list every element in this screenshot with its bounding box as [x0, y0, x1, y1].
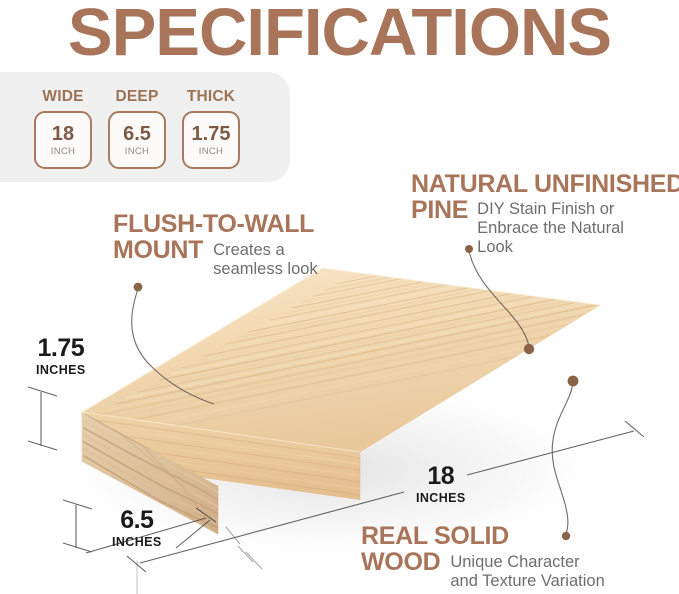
- dimension-label-thickness: 1.75 INCHES: [36, 336, 86, 377]
- callout-flush-heading-1: FLUSH-TO-WALL: [113, 212, 318, 238]
- dimension-unit-width: INCHES: [416, 492, 466, 505]
- callout-flush-sub: Creates a seamless look: [213, 238, 318, 280]
- callout-flush-sub-1: Creates a: [213, 241, 285, 259]
- dimension-unit-thickness: INCHES: [36, 364, 86, 377]
- dimension-value-depth: 6.5: [112, 508, 162, 533]
- callout-real-solid-wood: REAL SOLID WOOD Unique Character and Tex…: [361, 524, 650, 591]
- callout-wood-sub-1: Unique Character: [450, 553, 579, 571]
- callout-pine-heading-1: NATURAL UNFINISHED: [411, 170, 679, 198]
- callout-pine-heading-2: PINE: [411, 198, 468, 224]
- infographic-root: SPECIFICATIONS WIDE 18 INCH DEEP 6.5 INC…: [0, 0, 679, 594]
- dimension-label-width: 18 INCHES: [416, 464, 466, 505]
- product-illustration: [0, 0, 679, 594]
- callout-flush-to-wall: FLUSH-TO-WALL MOUNT Creates a seamless l…: [113, 212, 318, 279]
- leader-dot-wood-board: [568, 376, 579, 387]
- callout-flush-heading-2: MOUNT: [113, 238, 203, 264]
- callout-natural-pine: NATURAL UNFINISHED PINE DIY Stain Finish…: [411, 172, 679, 258]
- dimension-value-thickness: 1.75: [36, 336, 86, 361]
- callout-wood-sub: Unique Character and Texture Variation: [450, 550, 650, 592]
- callout-wood-heading-2: WOOD: [361, 550, 440, 576]
- leader-dot-flush: [134, 283, 143, 292]
- dimension-label-depth: 6.5 INCHES: [112, 508, 162, 549]
- callout-pine-sub-3: Look: [477, 238, 513, 256]
- callout-wood-sub-2: and Texture Variation: [450, 572, 604, 590]
- dimension-value-width: 18: [416, 464, 466, 489]
- callout-wood-heading-1: REAL SOLID: [361, 522, 509, 550]
- leader-dot-pine-board: [524, 344, 534, 354]
- dimension-unit-depth: INCHES: [112, 536, 162, 549]
- callout-flush-sub-2: seamless look: [213, 260, 318, 278]
- callout-pine-sub-1: DIY Stain Finish or: [477, 200, 614, 218]
- callout-pine-sub: DIY Stain Finish or Enbrace the Natural …: [477, 198, 647, 258]
- callout-pine-sub-2: Enbrace the Natural: [477, 219, 624, 237]
